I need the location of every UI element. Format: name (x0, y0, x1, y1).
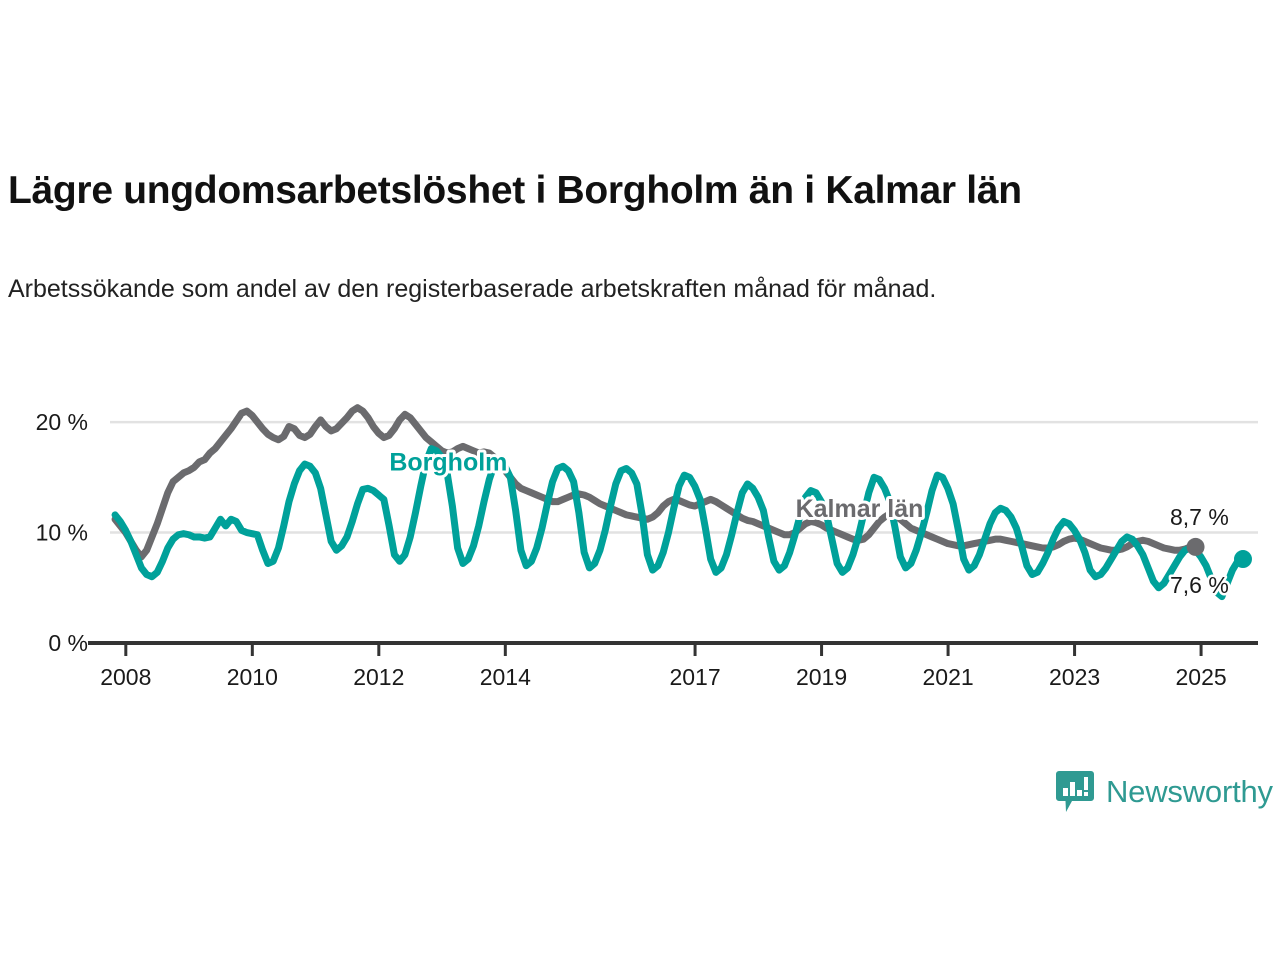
y-axis-tick-label: 20 % (36, 409, 88, 435)
kalmar-inline-label: Kalmar län (796, 495, 924, 523)
newsworthy-bar-chart-pin-icon (1055, 770, 1095, 814)
x-axis-tick-label: 2008 (100, 664, 151, 690)
borgholm-inline-label: Borgholm (389, 449, 507, 477)
x-axis-tick-label: 2014 (480, 664, 531, 690)
y-axis-tick-label: 0 % (48, 630, 88, 656)
newsworthy-wordmark: Newsworthy (1106, 774, 1273, 810)
series-line-borgholm (115, 449, 1243, 597)
kalmar-end-value: 8,7 % (1170, 504, 1229, 530)
series-line-kalmar-län (115, 408, 1195, 557)
data-series (115, 408, 1243, 597)
x-axis-tick-label: 2021 (922, 664, 973, 690)
x-axis-tick-label: 2025 (1175, 664, 1226, 690)
x-axis-tick-label: 2023 (1049, 664, 1100, 690)
series-endpoint-kalmar-län (1187, 538, 1205, 556)
y-axis-labels: 0 %10 %20 % (36, 409, 88, 656)
chart-page: Lägre ungdomsarbetslöshet i Borgholm än … (0, 0, 1280, 960)
line-chart: 0 %10 %20 % 2008201020122014201720192021… (0, 380, 1280, 700)
x-axis-tick-label: 2012 (353, 664, 404, 690)
x-axis-labels: 200820102012201420172019202120232025 (100, 664, 1226, 690)
series-endpoint-borgholm (1234, 550, 1252, 568)
page-subtitle: Arbetssökande som andel av den registerb… (8, 273, 1188, 306)
page-title: Lägre ungdomsarbetslöshet i Borgholm än … (8, 170, 1272, 212)
x-axis-tick-label: 2017 (669, 664, 720, 690)
y-axis-tick-label: 10 % (36, 520, 88, 546)
series-endpoints (1187, 538, 1252, 568)
chart-svg: 0 %10 %20 % 2008201020122014201720192021… (0, 380, 1280, 700)
x-axis-tick-label: 2010 (227, 664, 278, 690)
borgholm-end-value: 7,6 % (1170, 572, 1229, 598)
x-axis-tick-label: 2019 (796, 664, 847, 690)
newsworthy-logo: Newsworthy (1055, 766, 1273, 818)
